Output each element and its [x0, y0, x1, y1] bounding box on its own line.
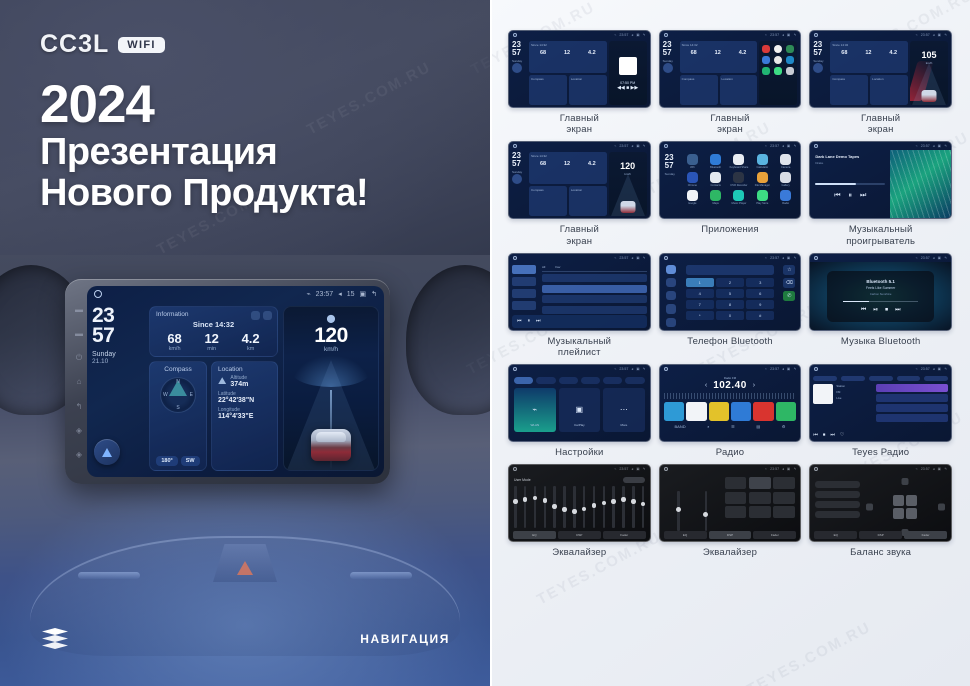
- thumbnail-sound-balance[interactable]: ⌁ 23:57 ◂ ▣ ↰: [809, 464, 952, 542]
- wifi-icon: ⌁: [916, 144, 918, 148]
- app-item[interactable]: Radio: [776, 190, 795, 205]
- thumbnail-home-drive-2[interactable]: ⌁ 23:57 ◂ ▣ ↰ 23 57 Sunday: [508, 141, 651, 219]
- tab-fader[interactable]: Fader: [904, 531, 947, 539]
- screenshot-icon[interactable]: ▣: [360, 290, 367, 298]
- thumbnail-home-apps[interactable]: ⌁ 23:57 ◂ ▣ ↰ 23 57 Sunday: [659, 30, 802, 108]
- tab-eq[interactable]: EQ: [513, 531, 556, 539]
- tab-all[interactable]: All: [542, 265, 545, 269]
- screenshot-icon: ▣: [938, 144, 941, 148]
- settings-icon[interactable]: ⚙: [782, 424, 786, 429]
- eq-band-slider[interactable]: [534, 486, 537, 528]
- key-3[interactable]: 3: [746, 278, 774, 287]
- eq-band-slider[interactable]: [514, 486, 517, 528]
- sidebar-item-albums[interactable]: [512, 277, 536, 286]
- album-art: [619, 57, 637, 75]
- tab-music[interactable]: [869, 376, 893, 381]
- refresh-icon[interactable]: [251, 311, 260, 320]
- sidebar-item-folders[interactable]: [512, 301, 536, 310]
- grid-cell[interactable]: ⌁ 23:57 ◂ ▣ ↰: [659, 464, 802, 558]
- tab-podcast[interactable]: [841, 376, 865, 381]
- preset-button[interactable]: [773, 492, 795, 504]
- screenshot-grid-panel: TEYES.COM.RU TEYES.COM.RU TEYES.COM.RU T…: [490, 0, 970, 686]
- list-icon[interactable]: ☰: [731, 424, 735, 429]
- radio-presets[interactable]: [664, 402, 797, 421]
- eq-band-slider[interactable]: [612, 486, 615, 528]
- thumbnail-music-playlist[interactable]: ⌁ 23:57 ◂ ▣ ↰: [508, 253, 651, 331]
- preset-button[interactable]: [773, 506, 795, 518]
- location-card[interactable]: Location: [569, 75, 607, 105]
- chevron-left-icon[interactable]: ‹: [705, 382, 707, 389]
- app-item[interactable]: Maps: [706, 190, 725, 205]
- tab-factory[interactable]: [581, 377, 600, 384]
- playback-controls[interactable]: ⏮ ⏸ ⏭: [815, 192, 885, 200]
- screenshot-icon: ▣: [636, 467, 639, 471]
- thumbnail-caption: Главныйэкран: [560, 224, 599, 246]
- thumbnail-equalizer[interactable]: ⌁ 23:57 ◂ ▣ ↰ User Mode: [508, 464, 651, 542]
- grid-cell[interactable]: ⌁ 23:57 ◂ ▣ ↰: [809, 364, 952, 458]
- station-row[interactable]: [876, 394, 948, 402]
- tab-sound[interactable]: [536, 377, 555, 384]
- thumbnail-caption: Баланс звука: [850, 547, 911, 558]
- dsp-slider[interactable]: [705, 491, 708, 531]
- previous-icon[interactable]: ⏮: [813, 432, 818, 438]
- calculator-app-icon: [757, 154, 768, 165]
- mini-clock: 23 57 Sunday: [512, 152, 527, 216]
- status-time: 23:57: [921, 33, 930, 37]
- back-icon[interactable]: ↰: [371, 290, 377, 298]
- grid-cell[interactable]: ⌁ 23:57 ◂ ▣ ↰ Bluetooth 5.1 Feels Like S…: [809, 253, 952, 358]
- app-item[interactable]: Bluetooth: [706, 154, 725, 169]
- tab-fm[interactable]: [924, 376, 948, 381]
- key-9[interactable]: 9: [746, 300, 774, 309]
- app-icon[interactable]: [774, 67, 782, 75]
- thumbnail-caption: Главныйэкран: [861, 113, 900, 135]
- grid-cell[interactable]: ⌁ 23:57 ◂ ▣ ↰ Radio FM ‹ 102.40 ›: [659, 364, 802, 458]
- navigation-fab-button[interactable]: [663, 63, 673, 73]
- setting-label: More: [603, 423, 645, 427]
- thumbnail-settings[interactable]: ⌁ 23:57 ◂ ▣ ↰: [508, 364, 651, 442]
- compass-card[interactable]: Compass: [529, 186, 567, 216]
- volume-icon: ◂: [782, 367, 784, 371]
- screenshot-icon: ▣: [787, 144, 790, 148]
- app-icon[interactable]: [762, 67, 770, 75]
- tab-fader[interactable]: Fader: [603, 531, 646, 539]
- eq-band-slider[interactable]: [524, 486, 527, 528]
- volume-icon: ◂: [782, 33, 784, 37]
- thumbnail-caption: Главныйэкран: [710, 113, 749, 135]
- preset-button[interactable]: [725, 506, 747, 518]
- app-drawer[interactable]: 23 57 Sunday Wifi Bluetooth Keyboard Sha…: [660, 150, 801, 218]
- grid-cell[interactable]: ⌁ 23:57 ◂ ▣ ↰ 23 57 Sunday: [659, 30, 802, 135]
- next-icon[interactable]: ⏭: [830, 432, 835, 438]
- track-row[interactable]: [542, 295, 647, 303]
- back-icon: ↰: [793, 144, 796, 148]
- thumbnail-radio[interactable]: ⌁ 23:57 ◂ ▣ ↰ Radio FM ‹ 102.40 ›: [659, 364, 802, 442]
- eq-band-slider[interactable]: [603, 486, 606, 528]
- track-row[interactable]: [542, 285, 647, 293]
- expand-icon[interactable]: [263, 311, 272, 320]
- dial-pad[interactable]: 1 2 3 4 5 6 7 8 9 *: [686, 278, 775, 320]
- home-icon: [664, 467, 668, 471]
- grid-cell[interactable]: ⌁ 23:57 ◂ ▣ ↰ Dark Lane Demo Tapes Drake: [809, 141, 952, 246]
- media-controls[interactable]: ◀◀ ■ ▶▶: [609, 85, 647, 91]
- sidebar-item-tracks[interactable]: [512, 265, 536, 274]
- volume-icon: ◂: [782, 467, 784, 471]
- sidebar-item-artists[interactable]: [512, 289, 536, 298]
- seat-rear-left: [893, 508, 904, 519]
- app-item[interactable]: Wifi: [683, 154, 702, 169]
- preset-6[interactable]: [776, 402, 796, 421]
- compass-card[interactable]: Compass: [529, 75, 567, 105]
- thumbnail-equalizer-2[interactable]: ⌁ 23:57 ◂ ▣ ↰: [659, 464, 802, 542]
- information-card[interactable]: Information Since 14:32 68 km/h: [149, 306, 278, 357]
- screenshot-icon: ▣: [938, 33, 941, 37]
- hazard-button[interactable]: [213, 544, 277, 582]
- status-time: 23:57: [619, 33, 628, 37]
- key-hash[interactable]: #: [746, 311, 774, 320]
- location-card[interactable]: Location: [569, 186, 607, 216]
- location-card[interactable]: Location: [870, 75, 908, 105]
- power-key[interactable]: ⏻: [75, 353, 84, 362]
- eq-band-slider[interactable]: [642, 486, 645, 528]
- volume-icon[interactable]: ◂: [338, 290, 342, 298]
- playback-controls[interactable]: ⏮ ⏹ ⏭ ♡: [813, 432, 948, 438]
- eq-footer-tabs[interactable]: EQ DSP Fader: [814, 531, 947, 539]
- grid-cell[interactable]: ⌁ 23:57 ◂ ▣ ↰: [508, 364, 651, 458]
- wifi-icon: ⌁: [614, 367, 616, 371]
- app-item[interactable]: Calculator: [753, 154, 772, 169]
- preset-rear[interactable]: [815, 491, 859, 498]
- preset-button[interactable]: [773, 477, 795, 489]
- compass-dial: N E S W: [160, 377, 196, 413]
- teyes-nav-tabs[interactable]: [813, 376, 948, 381]
- back-key[interactable]: ↰: [75, 402, 84, 411]
- key-0[interactable]: 0: [716, 311, 744, 320]
- thumbnail-apps[interactable]: ⌁ 23:57 ◂ ▣ ↰ 23 57 Sunday Wifi: [659, 141, 802, 219]
- arrow-up-button[interactable]: [902, 478, 909, 485]
- back-icon: ↰: [643, 256, 646, 260]
- progress-bar[interactable]: [815, 183, 885, 185]
- volume-down-key[interactable]: ▬: [75, 329, 84, 338]
- preset-2[interactable]: [686, 402, 706, 421]
- status-time: 23:57: [619, 467, 628, 471]
- call-history-icon[interactable]: [666, 304, 676, 313]
- grid-cell[interactable]: ⌁ 23:57 ◂ ▣ ↰ 23 57 Sunday: [508, 30, 651, 135]
- eq-footer-tabs[interactable]: EQ DSP Fader: [664, 531, 797, 539]
- thumbnail-home-drive[interactable]: ⌁ 23:57 ◂ ▣ ↰ 23 57 Sunday: [809, 30, 952, 108]
- since-label: Since 14:32: [156, 320, 271, 329]
- mini-player-bar[interactable]: ⏮ ⏸ ⏭: [512, 315, 647, 328]
- wifi-icon: ⌁: [916, 256, 918, 260]
- preset-button[interactable]: [725, 492, 747, 504]
- chrome-app-icon: [687, 172, 698, 183]
- tab-favorites[interactable]: Fav: [555, 265, 560, 269]
- location-card[interactable]: Location: [720, 75, 758, 105]
- app-item[interactable]: Camera: [776, 154, 795, 169]
- clock-hours: 23: [92, 306, 144, 326]
- navigation-fab-button[interactable]: [512, 174, 522, 184]
- station-row[interactable]: [876, 384, 948, 392]
- app-icon[interactable]: [774, 56, 782, 64]
- grid-cell[interactable]: ⌁ 23:57 ◂ ▣ ↰: [809, 464, 952, 558]
- app-icon[interactable]: [762, 45, 770, 53]
- driving-card[interactable]: 105 km/h: [910, 41, 948, 105]
- key-1[interactable]: 1: [686, 278, 714, 287]
- eq-band-slider[interactable]: [553, 486, 556, 528]
- eq-band-slider[interactable]: [632, 486, 635, 528]
- dsp-sliders[interactable]: [665, 477, 720, 537]
- status-time: 23:57: [921, 467, 930, 471]
- station-row[interactable]: [876, 404, 948, 412]
- tab-wlan[interactable]: [514, 377, 533, 384]
- setting-card-wlan[interactable]: ⌁ WLAN: [514, 388, 556, 432]
- grid-cell[interactable]: ⌁ 23:57 ◂ ▣ ↰: [659, 253, 802, 358]
- chevron-right-icon[interactable]: ›: [753, 382, 755, 389]
- driving-card[interactable]: ⬤ 120 km/h: [283, 306, 379, 471]
- next-icon[interactable]: ⏭: [860, 192, 866, 200]
- app-item[interactable]: Chrome: [683, 172, 702, 187]
- key-2[interactable]: 2: [716, 278, 744, 287]
- progress-bar[interactable]: [843, 301, 918, 302]
- setting-card-carplay[interactable]: ▣ CarPlay: [559, 388, 601, 432]
- volume-up-key[interactable]: ▬: [75, 305, 84, 314]
- wifi-app-icon: [687, 154, 698, 165]
- clock-date: 21.10: [92, 358, 144, 365]
- arrow-left-button[interactable]: [866, 504, 873, 511]
- navigation-fab-button[interactable]: [512, 63, 522, 73]
- preset-1[interactable]: [664, 402, 684, 421]
- carplay-icon: ▣: [576, 405, 584, 414]
- app-icon[interactable]: [786, 45, 794, 53]
- tab-eq[interactable]: EQ: [814, 531, 857, 539]
- app-icon[interactable]: [774, 45, 782, 53]
- tab-eq[interactable]: EQ: [664, 531, 707, 539]
- app-item[interactable]: Music Player: [729, 190, 748, 205]
- thumbnail-caption: Приложения: [701, 224, 759, 235]
- track-row[interactable]: [542, 274, 647, 282]
- track-row[interactable]: [542, 306, 647, 314]
- preset-4[interactable]: [731, 402, 751, 421]
- grid-cell[interactable]: ⌁ 23:57 ◂ ▣ ↰: [508, 253, 651, 358]
- arrow-right-button[interactable]: [938, 504, 945, 511]
- hardware-key-strip[interactable]: ▬ ▬ ⏻ ⌂ ↰ ◈ ◈: [71, 297, 87, 467]
- information-card[interactable]: Since 14:32 68 12 4.2: [529, 41, 607, 73]
- settings-icon[interactable]: [666, 318, 676, 327]
- preset-button[interactable]: [749, 477, 771, 489]
- phone-sidebar[interactable]: [660, 262, 682, 330]
- screenshot-icon: ▣: [636, 367, 639, 371]
- home-icon: [814, 467, 818, 471]
- stop-icon[interactable]: ⏹: [885, 307, 888, 314]
- volume-icon: ◂: [933, 33, 935, 37]
- key-8[interactable]: 8: [716, 300, 744, 309]
- preset-right[interactable]: [815, 511, 859, 518]
- frequency-scale[interactable]: [664, 393, 797, 399]
- key-star[interactable]: *: [686, 311, 714, 320]
- next-key[interactable]: ◈: [75, 426, 84, 435]
- wifi-icon: ⌁: [614, 144, 616, 148]
- preset-3[interactable]: [709, 402, 729, 421]
- favorite-icon[interactable]: ☆: [783, 265, 795, 275]
- next-icon[interactable]: ⏭: [895, 307, 900, 314]
- wifi-icon: ⌁: [765, 33, 767, 37]
- home-icon: [513, 467, 517, 471]
- dvr-recorder-app-icon: [733, 172, 744, 183]
- app-item[interactable]: Play Store: [753, 190, 772, 205]
- eq-footer-tabs[interactable]: EQ DSP Fader: [513, 531, 646, 539]
- dsp-slider[interactable]: [677, 491, 680, 531]
- home-key[interactable]: ⌂: [75, 377, 84, 386]
- thumbnail-home-media[interactable]: ⌁ 23:57 ◂ ▣ ↰ 23 57 Sunday: [508, 30, 651, 108]
- driving-card[interactable]: 120 km/h: [609, 152, 647, 216]
- volume-level: 15: [347, 291, 355, 298]
- equalizer-sliders[interactable]: [514, 486, 645, 528]
- tab-news[interactable]: [897, 376, 921, 381]
- head-unit-bezel: ▬ ▬ ⏻ ⌂ ↰ ◈ ◈ ⌁ 23:57 ◂ 15: [65, 279, 390, 484]
- app-item[interactable]: Keyboard Share: [729, 154, 748, 169]
- status-time: 23:57: [921, 256, 930, 260]
- grid-cell[interactable]: ⌁ 23:57 ◂ ▣ ↰ User Mode: [508, 464, 651, 558]
- navigation-fab-button[interactable]: [813, 63, 823, 73]
- playback-controls[interactable]: ⏮ ⏯ ⏹ ⏭: [861, 307, 901, 314]
- eq-band-slider[interactable]: [544, 486, 547, 528]
- phone-number-input[interactable]: [686, 265, 775, 275]
- wifi-icon: ⌁: [614, 33, 616, 37]
- app-item[interactable]: Contacts: [706, 172, 725, 187]
- console-slot-right: [350, 572, 412, 579]
- preset-button[interactable]: [749, 492, 771, 504]
- home-icon: [513, 256, 517, 260]
- compass-card[interactable]: Compass: [680, 75, 718, 105]
- key-4[interactable]: 4: [686, 289, 714, 298]
- tab-dsp[interactable]: DSP: [558, 531, 601, 539]
- thumbnail-bluetooth-phone[interactable]: ⌁ 23:57 ◂ ▣ ↰: [659, 253, 802, 331]
- thumbnail-music-player[interactable]: ⌁ 23:57 ◂ ▣ ↰ Dark Lane Demo Tapes Drake: [809, 141, 952, 219]
- call-icon[interactable]: ✆: [783, 291, 795, 301]
- eq-band-slider[interactable]: [563, 486, 566, 528]
- grid-cell[interactable]: ⌁ 23:57 ◂ ▣ ↰ 23 57 Sunday: [508, 141, 651, 246]
- preset-5[interactable]: [753, 402, 773, 421]
- eq-band-slider[interactable]: [593, 486, 596, 528]
- setting-card-more[interactable]: ⋯ More: [603, 388, 645, 432]
- title-line-2: Нового Продукта!: [40, 173, 368, 214]
- tab-fader[interactable]: Fader: [753, 531, 796, 539]
- stop-icon[interactable]: ⏹: [823, 432, 826, 438]
- compass-east: E: [190, 392, 193, 398]
- screenshot-icon: ▣: [787, 256, 790, 260]
- app-icon[interactable]: [786, 67, 794, 75]
- app-item[interactable]: Gallery: [776, 172, 795, 187]
- volume-icon: ◂: [782, 256, 784, 260]
- station-row[interactable]: [876, 414, 948, 422]
- grid-cell[interactable]: ⌁ 23:57 ◂ ▣ ↰ 23 57 Sunday Wifi: [659, 141, 802, 246]
- play-pause-icon[interactable]: ⏯: [873, 307, 878, 314]
- dialpad-icon[interactable]: [666, 265, 676, 274]
- search-icon[interactable]: [666, 291, 676, 300]
- balance-pad[interactable]: [865, 477, 946, 537]
- head-unit-screen[interactable]: ⌁ 23:57 ◂ 15 ▣ ↰ 23 57 Sunday 21.10: [87, 286, 384, 477]
- information-card[interactable]: Since 14:32 68 12 4.2: [680, 41, 758, 73]
- favorite-icon[interactable]: ♡: [840, 432, 844, 438]
- location-card[interactable]: Location ⛰ Altitude 374m Latitude: [211, 361, 278, 471]
- app-icon[interactable]: [786, 56, 794, 64]
- screenshot-icon: ▣: [636, 33, 639, 37]
- settings-tabs[interactable]: [514, 377, 645, 384]
- scan-icon[interactable]: ⌕: [707, 424, 709, 429]
- previous-icon[interactable]: ⏮: [517, 318, 522, 324]
- preset-button[interactable]: [725, 477, 747, 489]
- navigation-fab-button[interactable]: [94, 439, 120, 465]
- tab-display[interactable]: [559, 377, 578, 384]
- tab-general[interactable]: [603, 377, 622, 384]
- app-item[interactable]: File Manager: [753, 172, 772, 187]
- preset-button[interactable]: [749, 506, 771, 518]
- compass-card[interactable]: Compass: [830, 75, 868, 105]
- tab-system[interactable]: [625, 377, 644, 384]
- back-icon: ↰: [944, 144, 947, 148]
- compass-west: W: [163, 392, 168, 398]
- file-manager-app-icon: [757, 172, 768, 183]
- information-card[interactable]: Since 14:32 68 12 4.2: [830, 41, 908, 73]
- wifi-icon: ⌁: [916, 467, 918, 471]
- eq-band-slider[interactable]: [622, 486, 625, 528]
- key-7[interactable]: 7: [686, 300, 714, 309]
- prev-key[interactable]: ◈: [75, 450, 84, 459]
- eq-band-slider[interactable]: [583, 486, 586, 528]
- thumbnail-teyes-radio[interactable]: ⌁ 23:57 ◂ ▣ ↰: [809, 364, 952, 442]
- media-widget[interactable]: 07:50 PM ◀◀ ■ ▶▶: [609, 41, 647, 105]
- radio-toolbar[interactable]: BAND ⌕ ☰ ▤ ⚙: [664, 424, 797, 429]
- previous-icon[interactable]: ⏮: [861, 307, 866, 314]
- back-icon: ↰: [944, 33, 947, 37]
- eq-icon[interactable]: ▤: [756, 424, 760, 429]
- station-freq: FM: [836, 390, 845, 394]
- eq-preset-selector[interactable]: [623, 477, 645, 483]
- preset-left[interactable]: [815, 501, 859, 508]
- app-item[interactable]: Google: [683, 190, 702, 205]
- app-shortcut-panel[interactable]: [759, 41, 797, 105]
- next-icon[interactable]: ⏭: [536, 318, 541, 324]
- information-card[interactable]: Since 14:32 68 12 4.2: [529, 152, 607, 184]
- station-list[interactable]: [876, 384, 948, 432]
- backspace-icon[interactable]: ⌫: [783, 278, 795, 288]
- balance-presets[interactable]: [815, 477, 859, 537]
- home-icon[interactable]: [94, 290, 102, 298]
- pause-icon[interactable]: ⏸: [528, 318, 531, 324]
- speed-value: 105: [910, 50, 948, 60]
- wifi-icon: ⌁: [765, 467, 767, 471]
- tab-home[interactable]: [813, 376, 837, 381]
- bluetooth-app-icon: [710, 154, 721, 165]
- pause-icon[interactable]: ⏸: [849, 192, 853, 200]
- volume-icon: ◂: [631, 144, 633, 148]
- eq-band-slider[interactable]: [573, 486, 576, 528]
- previous-icon[interactable]: ⏮: [834, 192, 840, 200]
- key-5[interactable]: 5: [716, 289, 744, 298]
- app-icon[interactable]: [762, 56, 770, 64]
- grid-cell[interactable]: ⌁ 23:57 ◂ ▣ ↰ 23 57 Sunday: [809, 30, 952, 135]
- dsp-presets[interactable]: [725, 477, 796, 537]
- band-button[interactable]: BAND: [674, 424, 685, 429]
- tab-dsp[interactable]: DSP: [859, 531, 902, 539]
- app-item[interactable]: DVR Recorder: [729, 172, 748, 187]
- compass-card[interactable]: Compass N E S W 180°: [149, 361, 207, 471]
- key-6[interactable]: 6: [746, 289, 774, 298]
- thumbnail-bluetooth-music[interactable]: ⌁ 23:57 ◂ ▣ ↰ Bluetooth 5.1 Feels Like S…: [809, 253, 952, 331]
- preset-front[interactable]: [815, 481, 859, 488]
- contacts-icon[interactable]: [666, 278, 676, 287]
- tab-dsp[interactable]: DSP: [709, 531, 752, 539]
